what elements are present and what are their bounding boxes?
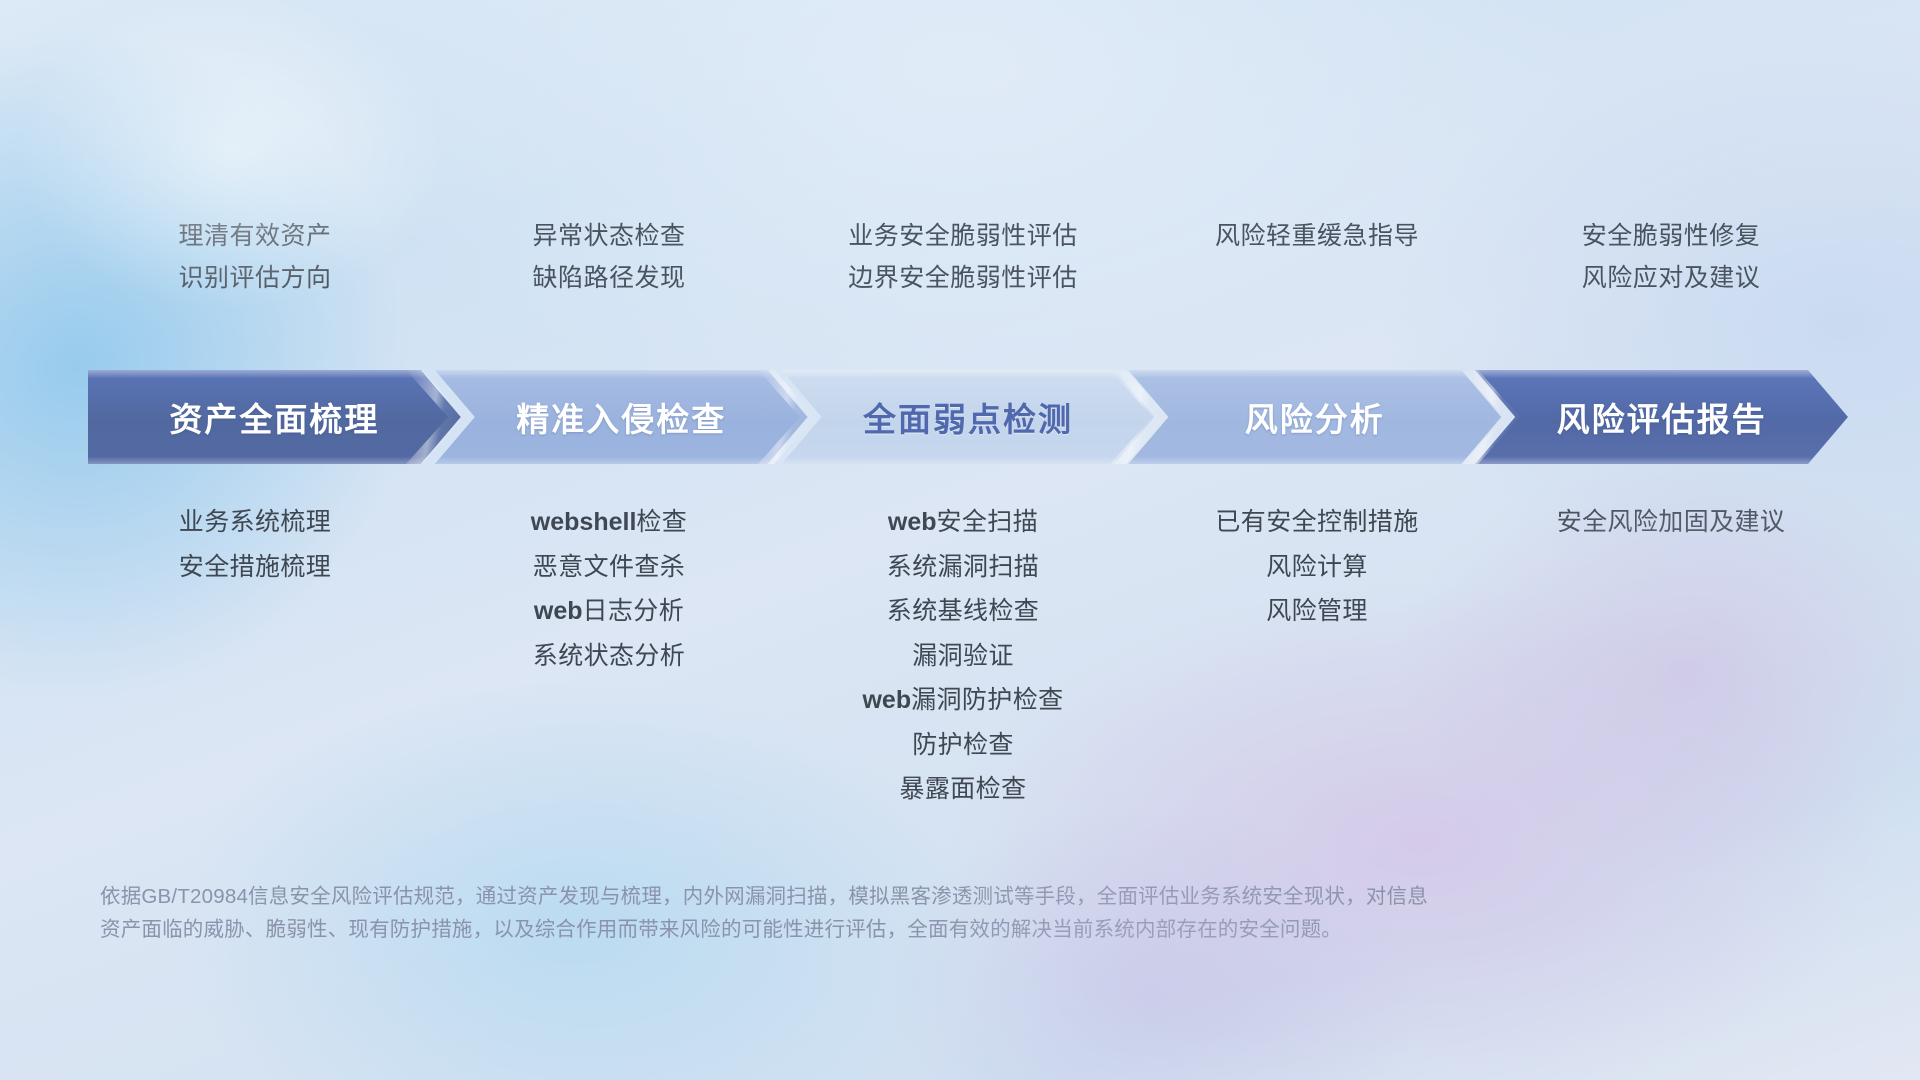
- process-step-3[interactable]: 全面弱点检测: [782, 370, 1155, 464]
- activity-item: 防护检查: [912, 731, 1014, 761]
- process-step-4[interactable]: 风险分析: [1128, 370, 1501, 464]
- process-step-label: 全面弱点检测: [863, 393, 1073, 441]
- process-step-label: 风险分析: [1245, 393, 1385, 441]
- output-item: 业务安全脆弱性评估: [848, 222, 1078, 251]
- activity-item: 漏洞验证: [912, 642, 1014, 672]
- activity-item: 已有安全控制措施: [1215, 508, 1418, 538]
- activity-item: 安全措施梳理: [179, 553, 331, 583]
- process-step-label: 资产全面梳理: [169, 393, 379, 441]
- output-item: 缺陷路径发现: [532, 264, 685, 293]
- slide-canvas: 理清有效资产 识别评估方向 异常状态检查 缺陷路径发现 业务安全脆弱性评估 边界…: [0, 0, 1920, 1080]
- activity-item: 安全风险加固及建议: [1557, 508, 1786, 538]
- process-step-label: 精准入侵检查: [516, 393, 726, 441]
- step-activities-4: 已有安全控制措施 风险计算 风险管理: [1140, 508, 1494, 627]
- output-item: 异常状态检查: [532, 222, 685, 251]
- activity-item: 系统状态分析: [533, 642, 685, 672]
- step-outputs-5: 安全脆弱性修复 风险应对及建议: [1494, 222, 1848, 293]
- output-item: 安全脆弱性修复: [1582, 222, 1761, 251]
- activity-item: 系统漏洞扫描: [887, 553, 1039, 583]
- process-chevron-band: 资产全面梳理 精准入侵检查 全面弱点检测 风险分析 风险评估报告: [88, 370, 1848, 464]
- activity-item: 恶意文件查杀: [533, 553, 685, 583]
- activity-item: 风险管理: [1266, 597, 1368, 627]
- activity-item: webshell检查: [531, 508, 687, 538]
- step-outputs-3: 业务安全脆弱性评估 边界安全脆弱性评估: [786, 222, 1140, 293]
- footer-note: 依据GB/T20984信息安全风险评估规范，通过资产发现与梳理，内外网漏洞扫描，…: [100, 880, 1660, 946]
- output-item: 风险应对及建议: [1582, 264, 1761, 293]
- activity-item: 系统基线检查: [887, 597, 1039, 627]
- step-outputs-1: 理清有效资产 识别评估方向: [78, 222, 432, 293]
- output-item: 风险轻重缓急指导: [1215, 222, 1419, 251]
- step-activities-row: 业务系统梳理 安全措施梳理 webshell检查 恶意文件查杀 web日志分析 …: [78, 508, 1848, 805]
- activity-item: web日志分析: [534, 597, 684, 627]
- step-activities-5: 安全风险加固及建议: [1494, 508, 1848, 538]
- process-step-label: 风险评估报告: [1557, 393, 1767, 441]
- activity-item: 暴露面检查: [899, 775, 1026, 805]
- step-outputs-row: 理清有效资产 识别评估方向 异常状态检查 缺陷路径发现 业务安全脆弱性评估 边界…: [78, 222, 1848, 293]
- step-outputs-4: 风险轻重缓急指导: [1140, 222, 1494, 251]
- activity-item: 业务系统梳理: [179, 508, 331, 538]
- output-item: 理清有效资产: [178, 222, 331, 251]
- activity-item: web安全扫描: [888, 508, 1038, 538]
- process-step-1[interactable]: 资产全面梳理: [88, 370, 461, 464]
- step-activities-2: webshell检查 恶意文件查杀 web日志分析 系统状态分析: [432, 508, 786, 671]
- step-activities-1: 业务系统梳理 安全措施梳理: [78, 508, 432, 582]
- footer-line-2: 资产面临的威胁、脆弱性、现有防护措施，以及综合作用而带来风险的可能性进行评估，全…: [100, 913, 1660, 946]
- activity-item: 风险计算: [1266, 553, 1368, 583]
- step-outputs-2: 异常状态检查 缺陷路径发现: [432, 222, 786, 293]
- process-step-5[interactable]: 风险评估报告: [1475, 370, 1848, 464]
- footer-line-1: 依据GB/T20984信息安全风险评估规范，通过资产发现与梳理，内外网漏洞扫描，…: [100, 880, 1660, 913]
- output-item: 识别评估方向: [178, 264, 331, 293]
- slide-content: 理清有效资产 识别评估方向 异常状态检查 缺陷路径发现 业务安全脆弱性评估 边界…: [0, 0, 1920, 1080]
- step-activities-3: web安全扫描 系统漏洞扫描 系统基线检查 漏洞验证 web漏洞防护检查 防护检…: [786, 508, 1140, 805]
- activity-item: web漏洞防护检查: [862, 686, 1063, 716]
- output-item: 边界安全脆弱性评估: [848, 264, 1078, 293]
- process-step-2[interactable]: 精准入侵检查: [435, 370, 808, 464]
